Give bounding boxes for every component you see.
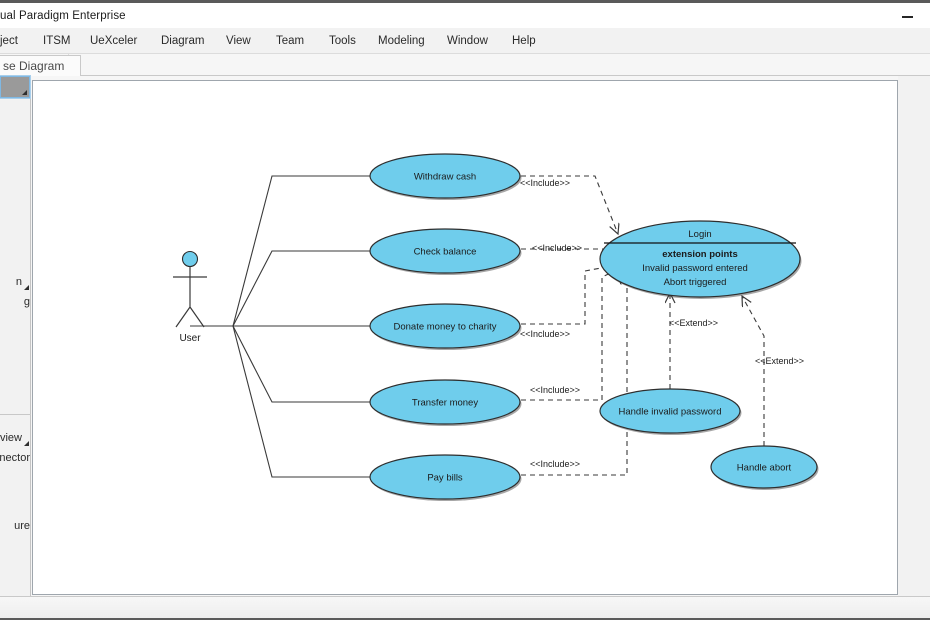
palette-item-label: nector: [0, 452, 30, 464]
menu-item-label: ITSM: [43, 35, 70, 47]
actor-user[interactable]: [173, 252, 207, 328]
menu-item-label: UeXceler: [90, 35, 137, 47]
palette-item-rview[interactable]: rview: [0, 428, 31, 448]
include-stereotype-label: <<Include>>: [520, 178, 570, 188]
actor-label: User: [179, 333, 201, 344]
menu-item-label: ject: [0, 35, 18, 47]
menu-item-modeling[interactable]: Modeling: [378, 28, 425, 54]
expand-corner-icon[interactable]: [24, 285, 29, 290]
expand-corner-icon[interactable]: [22, 90, 27, 95]
title-bar: ual Paradigm Enterprise: [0, 0, 930, 28]
palette-item-g[interactable]: g: [0, 292, 31, 312]
use-case-label: Withdraw cash: [414, 172, 476, 183]
minimize-button[interactable]: [884, 3, 930, 31]
menu-item-uexceler[interactable]: UeXceler: [90, 28, 137, 54]
palette-item-label: rview: [0, 432, 22, 444]
extend-stereotype-label: <<Extend>>: [669, 318, 718, 328]
use-case-label: Pay bills: [427, 473, 463, 484]
use-case-label: Handle invalid password: [619, 407, 722, 418]
minimize-icon: [902, 16, 913, 18]
diagram-canvas[interactable]: UserWithdraw cashCheck balanceDonate mon…: [32, 80, 898, 595]
palette-item-nector[interactable]: nector: [0, 448, 31, 468]
include-stereotype-label: <<Include>>: [532, 243, 582, 253]
use-case-label: Handle abort: [737, 463, 792, 474]
actor-body-icon: [173, 267, 207, 327]
menu-bar: jectITSMUeXcelerDiagramViewTeamToolsMode…: [0, 28, 930, 54]
association-transfer-money[interactable]: [233, 326, 370, 402]
menu-item-label: Diagram: [161, 35, 204, 47]
menu-item-label: Team: [276, 35, 304, 47]
tab-use-case-diagram[interactable]: se Diagram: [0, 55, 81, 76]
menu-item-label: Modeling: [378, 35, 425, 47]
palette-item-selected[interactable]: [0, 76, 30, 98]
menu-item-help[interactable]: Help: [512, 28, 536, 54]
login-extension-points-heading: extension points: [662, 249, 737, 260]
menu-item-team[interactable]: Team: [276, 28, 304, 54]
menu-item-label: View: [226, 35, 251, 47]
include-donate-money-to-login[interactable]: [521, 265, 617, 324]
tab-strip: se Diagram: [0, 54, 930, 76]
include-stereotype-label: <<Include>>: [530, 385, 580, 395]
menu-item-label: Tools: [329, 35, 356, 47]
use-case-label: Check balance: [414, 247, 477, 258]
expand-corner-icon[interactable]: [24, 441, 29, 446]
login-extension-point: Invalid password entered: [642, 263, 748, 274]
diagram-palette: ngrviewnectorure: [0, 76, 31, 596]
association-check-balance[interactable]: [233, 251, 370, 326]
window-controls: [884, 3, 930, 31]
extend-handle-abort-to-login[interactable]: [742, 296, 764, 446]
use-case-diagram-svg: UserWithdraw cashCheck balanceDonate mon…: [33, 81, 897, 594]
status-bar: [0, 596, 930, 620]
extend-stereotype-label: <<Extend>>: [755, 356, 804, 366]
menu-item-itsm[interactable]: ITSM: [43, 28, 70, 54]
login-title: Login: [688, 229, 711, 240]
include-pay-bills-to-login[interactable]: [521, 274, 627, 475]
menu-item-diagram[interactable]: Diagram: [161, 28, 204, 54]
palette-item-label: ure: [14, 520, 30, 532]
right-edge-strip: [898, 76, 930, 596]
use-case-label: Transfer money: [412, 398, 478, 409]
application-window: ual Paradigm Enterprise jectITSMUeXceler…: [0, 0, 930, 620]
menu-item-ject[interactable]: ject: [0, 28, 18, 54]
menu-item-tools[interactable]: Tools: [329, 28, 356, 54]
use-case-label: Donate money to charity: [394, 322, 497, 333]
actor-head-icon: [183, 252, 198, 267]
palette-item-ure[interactable]: ure: [0, 516, 31, 536]
palette-divider: [0, 414, 31, 415]
include-stereotype-label: <<Include>>: [530, 459, 580, 469]
window-title: ual Paradigm Enterprise: [0, 10, 126, 22]
login-extension-point: Abort triggered: [664, 277, 727, 288]
menu-item-window[interactable]: Window: [447, 28, 488, 54]
tab-label: se Diagram: [3, 59, 64, 73]
palette-item-n[interactable]: n: [0, 272, 31, 292]
include-stereotype-label: <<Include>>: [520, 329, 570, 339]
menu-item-label: Window: [447, 35, 488, 47]
palette-item-label: g: [24, 296, 30, 308]
menu-item-label: Help: [512, 35, 536, 47]
menu-item-view[interactable]: View: [226, 28, 251, 54]
palette-item-label: n: [16, 276, 22, 288]
